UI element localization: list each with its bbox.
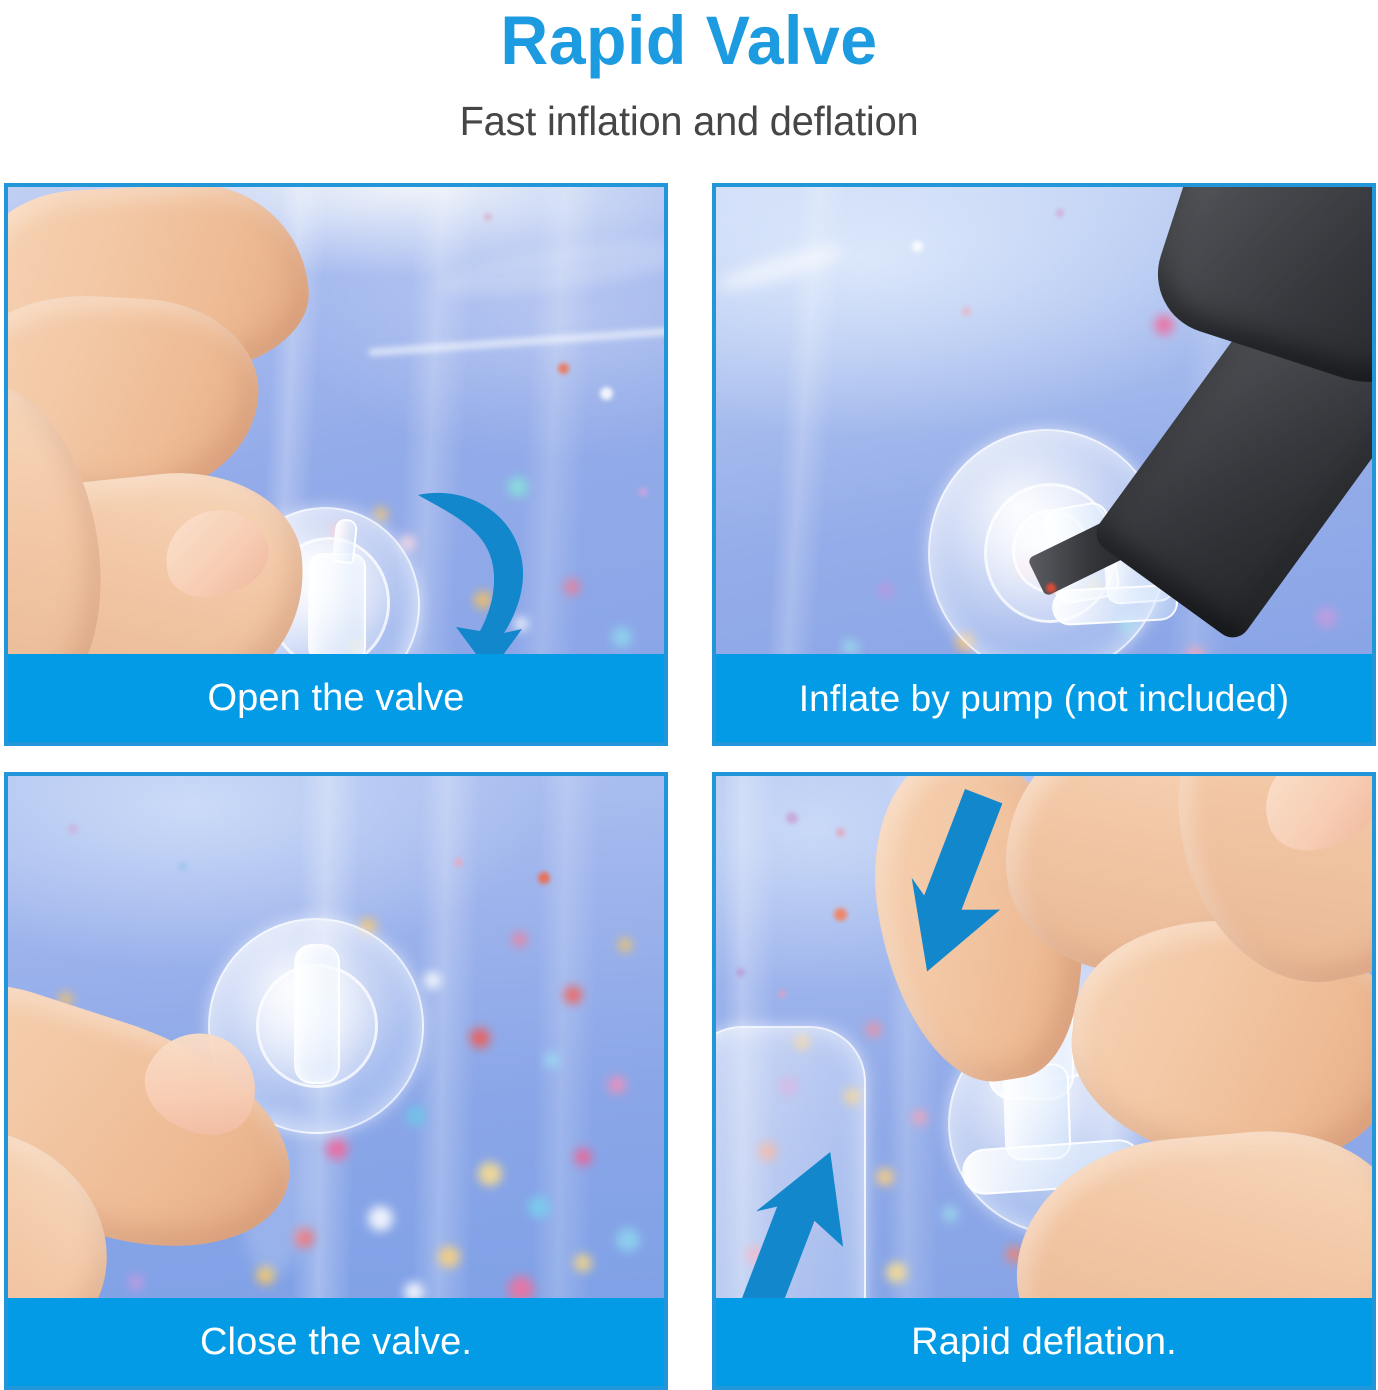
lower-hand [1016, 1106, 1372, 1298]
valve-flange [1051, 584, 1179, 627]
step-photo-3 [8, 776, 664, 1298]
step-caption-3: Close the valve. [8, 1298, 664, 1386]
step-caption-1: Open the valve [8, 654, 664, 742]
lower-finger [1006, 1119, 1372, 1298]
up-arrow-icon [738, 1136, 878, 1298]
step-panel-close-valve: Close the valve. [4, 772, 668, 1390]
step-panel-inflate-pump: Inflate by pump (not included) [712, 183, 1376, 746]
curved-arrow-icon [394, 477, 554, 654]
step-cell-2: Inflate by pump (not included) [690, 183, 1376, 772]
finger-icon [8, 956, 348, 1298]
page-subtitle: Fast inflation and deflation [21, 75, 1358, 142]
step-photo-4 [716, 776, 1372, 1298]
header: Rapid Valve Fast inflation and deflation [0, 0, 1378, 170]
step-photo-1 [8, 187, 664, 654]
step-caption-2: Inflate by pump (not included) [716, 654, 1372, 742]
steps-grid: Open the valve [4, 183, 1374, 1390]
step-cell-3: Close the valve. [4, 772, 690, 1390]
step-panel-rapid-deflation: Rapid deflation. [712, 772, 1376, 1390]
infographic-page: Rapid Valve Fast inflation and deflation [0, 0, 1378, 1390]
step-caption-4: Rapid deflation. [716, 1298, 1372, 1386]
step-cell-1: Open the valve [4, 183, 690, 772]
step-cell-4: Rapid deflation. [690, 772, 1376, 1390]
step-panel-open-valve: Open the valve [4, 183, 668, 746]
hand-icon [8, 187, 398, 654]
page-title: Rapid Valve [28, 0, 1351, 75]
glitter-accent [1046, 583, 1056, 593]
step-photo-2 [716, 187, 1372, 654]
down-arrow-icon [906, 788, 1036, 988]
